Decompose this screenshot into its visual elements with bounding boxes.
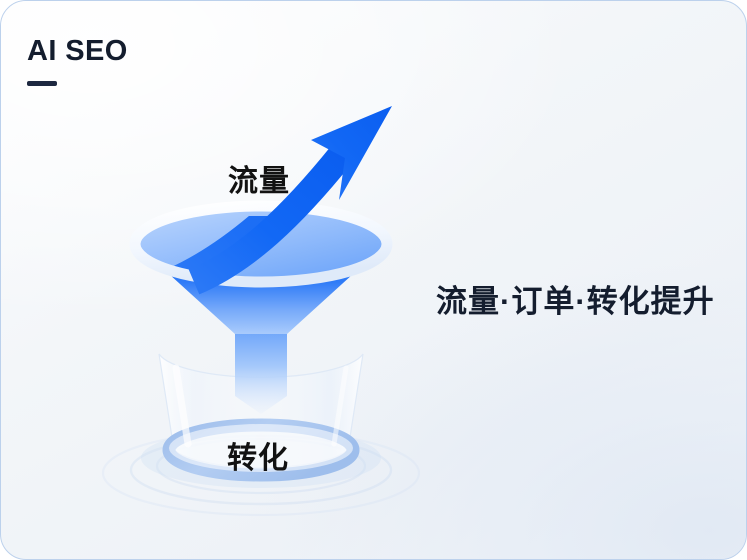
page-title-block: AI SEO xyxy=(27,37,128,86)
title-underline-rule xyxy=(27,81,57,86)
funnel-stem xyxy=(235,328,287,414)
tagline-text: 流量·订单·转化提升 xyxy=(436,276,715,321)
page-title: AI SEO xyxy=(27,37,128,66)
funnel-label-conversion: 转化 xyxy=(227,433,289,477)
illustration-canvas: AI SEO xyxy=(0,0,747,560)
funnel-label-traffic: 流量 xyxy=(228,156,290,200)
